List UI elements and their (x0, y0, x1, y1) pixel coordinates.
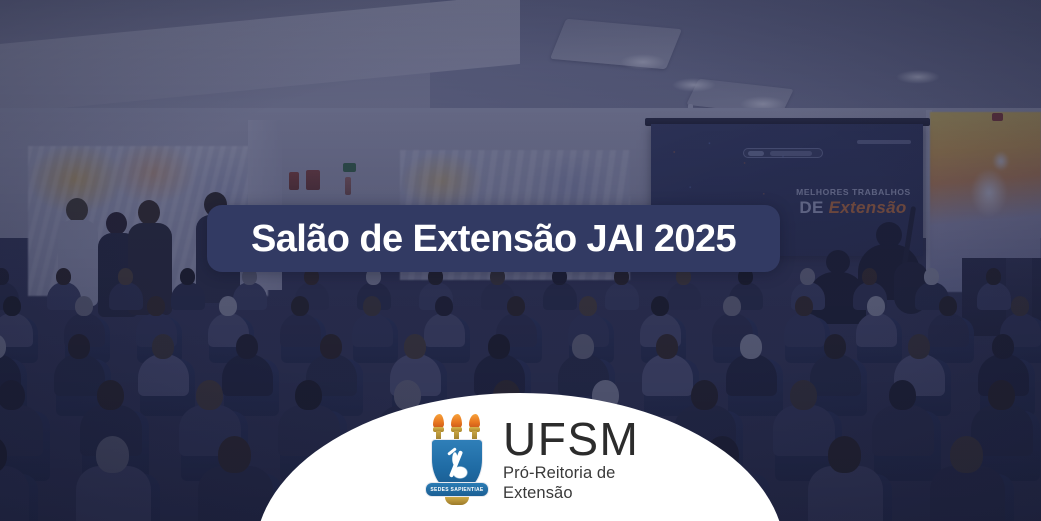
ufsm-wordmark-main: UFSM (503, 418, 639, 460)
ufsm-logo: SEDES SAPIENTIAE UFSM Pró-Reitoria de Ex… (425, 414, 639, 510)
crest-base (445, 496, 469, 505)
crest-motto-ribbon: SEDES SAPIENTIAE (425, 482, 489, 497)
ufsm-wordmark-sub-line2: Extensão (503, 484, 639, 503)
page-title: Salão de Extensão JAI 2025 (251, 220, 736, 258)
crest-motto-text: SEDES SAPIENTIAE (430, 487, 483, 493)
event-banner-graphic: MELHORES TRABALHOS DE Extensão Salão de … (0, 0, 1041, 521)
ufsm-crest-icon: SEDES SAPIENTIAE (425, 414, 489, 510)
ufsm-wordmark: UFSM Pró-Reitoria de Extensão (503, 414, 639, 503)
ufsm-wordmark-sub-line1: Pró-Reitoria de (503, 464, 639, 483)
title-banner: Salão de Extensão JAI 2025 (207, 205, 780, 272)
